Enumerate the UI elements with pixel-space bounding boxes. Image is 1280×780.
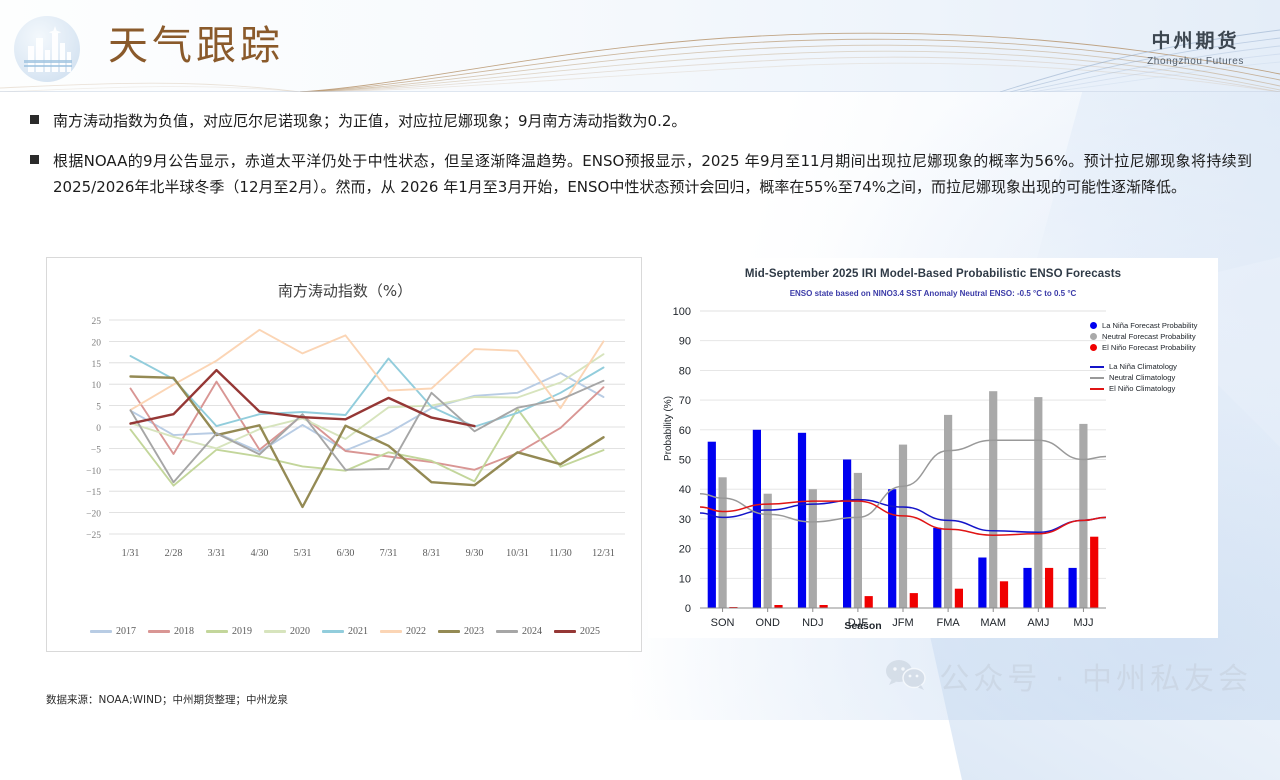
iri-legend-label: La Niña Forecast Probability — [1102, 321, 1197, 330]
iri-enso-forecast-chart: Mid-September 2025 IRI Model-Based Proba… — [648, 258, 1218, 638]
legend-swatch — [90, 630, 112, 633]
iri-legend-label: Neutral Forecast Probability — [1102, 332, 1196, 341]
bullet-square-icon — [30, 115, 39, 124]
legend-label: 2022 — [406, 626, 426, 637]
soi-plot-area: 2520151050−5−10−15−20−251/312/283/314/30… — [47, 306, 643, 586]
soi-legend-item-2019[interactable]: 2019 — [206, 626, 252, 637]
svg-text:70: 70 — [679, 395, 691, 407]
data-source-note: 数据来源：NOAA;WIND；中州期货整理；中州龙泉 — [46, 692, 288, 707]
legend-swatch — [206, 630, 228, 633]
svg-text:−15: −15 — [86, 488, 101, 498]
legend-dot-marker — [1090, 322, 1097, 329]
iri-legend-item[interactable]: La Niña Forecast Probability — [1090, 320, 1197, 331]
legend-label: 2018 — [174, 626, 194, 637]
watermark-text: 公众号 · 中州私友会 — [939, 654, 1252, 698]
soi-legend-item-2020[interactable]: 2020 — [264, 626, 310, 637]
soi-legend-item-2025[interactable]: 2025 — [554, 626, 600, 637]
svg-text:80: 80 — [679, 365, 691, 377]
svg-text:8/31: 8/31 — [423, 548, 441, 559]
iri-legend-item[interactable]: El Niño Climatology — [1090, 383, 1197, 394]
svg-text:10: 10 — [92, 381, 102, 391]
svg-text:−20: −20 — [86, 510, 101, 520]
soi-legend-item-2022[interactable]: 2022 — [380, 626, 426, 637]
soi-legend-item-2024[interactable]: 2024 — [496, 626, 542, 637]
svg-text:−25: −25 — [86, 531, 101, 541]
svg-text:15: 15 — [92, 360, 102, 370]
iri-legend-item[interactable]: Neutral Forecast Probability — [1090, 331, 1197, 342]
city-skyline-icon — [14, 16, 80, 82]
iri-legend-label: La Niña Climatology — [1109, 362, 1177, 371]
svg-text:0: 0 — [96, 424, 101, 434]
iri-plot-area: 0102030405060708090100SONONDNDJDJFJFMFMA… — [656, 303, 1116, 663]
bullet-square-icon — [30, 155, 39, 164]
brand-logo: 中州期货 Zhongzhou Futures — [1147, 26, 1244, 67]
iri-legend-label: Neutral Climatology — [1109, 373, 1175, 382]
ghost-caption — [46, 668, 48, 677]
svg-text:9/30: 9/30 — [466, 548, 484, 559]
iri-y-axis-label: Probability (%) — [663, 396, 674, 461]
legend-dot-marker — [1090, 344, 1097, 351]
legend-label: 2019 — [232, 626, 252, 637]
svg-text:3/31: 3/31 — [208, 548, 226, 559]
iri-legend-label: El Niño Climatology — [1109, 384, 1175, 393]
legend-swatch — [496, 630, 518, 633]
svg-text:12/31: 12/31 — [592, 548, 615, 559]
iri-legend-label: El Niño Forecast Probability — [1102, 343, 1196, 352]
legend-swatch — [322, 630, 344, 633]
bullet-item: 根据NOAA的9月公告显示，赤道太平洋仍处于中性状态，但呈逐渐降温趋势。ENSO… — [30, 148, 1252, 200]
soi-line-chart: 南方涛动指数（%） 2520151050−5−10−15−20−251/312/… — [46, 257, 642, 652]
legend-swatch — [148, 630, 170, 633]
legend-swatch — [554, 630, 576, 634]
svg-text:60: 60 — [679, 425, 691, 437]
legend-swatch — [380, 630, 402, 633]
legend-label: 2025 — [580, 626, 600, 637]
svg-text:5: 5 — [96, 403, 101, 413]
iri-chart-subtitle: ENSO state based on NINO3.4 SST Anomaly … — [648, 289, 1218, 298]
svg-text:10/31: 10/31 — [506, 548, 529, 559]
svg-text:5/31: 5/31 — [294, 548, 312, 559]
brand-name-en: Zhongzhou Futures — [1147, 56, 1244, 67]
svg-text:50: 50 — [679, 455, 691, 467]
legend-label: 2021 — [348, 626, 368, 637]
svg-text:100: 100 — [673, 306, 691, 318]
legend-label: 2024 — [522, 626, 542, 637]
legend-label: 2020 — [290, 626, 310, 637]
svg-text:7/31: 7/31 — [380, 548, 398, 559]
svg-text:−5: −5 — [91, 445, 101, 455]
legend-swatch — [264, 630, 286, 633]
company-logo-badge — [14, 16, 80, 82]
iri-x-axis-label: Season — [648, 620, 1078, 632]
soi-legend-item-2023[interactable]: 2023 — [438, 626, 484, 637]
bullet-item: 南方涛动指数为负值，对应厄尔尼诺现象；为正值，对应拉尼娜现象；9月南方涛动指数为… — [30, 108, 1252, 134]
brand-name-cn: 中州期货 — [1147, 26, 1244, 53]
bullet-text: 南方涛动指数为负值，对应厄尔尼诺现象；为正值，对应拉尼娜现象；9月南方涛动指数为… — [53, 108, 686, 134]
soi-legend-item-2021[interactable]: 2021 — [322, 626, 368, 637]
soi-legend-item-2017[interactable]: 2017 — [90, 626, 136, 637]
svg-text:30: 30 — [679, 514, 691, 526]
svg-text:4/30: 4/30 — [251, 548, 269, 559]
soi-legend: 201720182019202020212022202320242025 — [47, 626, 643, 637]
svg-text:20: 20 — [679, 544, 691, 556]
svg-text:−10: −10 — [86, 467, 101, 477]
svg-text:10: 10 — [679, 573, 691, 585]
legend-line-marker — [1090, 366, 1104, 368]
wechat-icon — [885, 659, 927, 693]
soi-legend-item-2018[interactable]: 2018 — [148, 626, 194, 637]
svg-text:2/28: 2/28 — [165, 548, 183, 559]
svg-text:1/31: 1/31 — [122, 548, 140, 559]
legend-label: 2023 — [464, 626, 484, 637]
legend-separator — [1090, 353, 1197, 361]
legend-line-marker — [1090, 377, 1104, 379]
svg-text:40: 40 — [679, 484, 691, 496]
iri-legend-item[interactable]: Neutral Climatology — [1090, 372, 1197, 383]
iri-legend-item[interactable]: El Niño Forecast Probability — [1090, 342, 1197, 353]
svg-text:6/30: 6/30 — [337, 548, 355, 559]
svg-text:0: 0 — [685, 603, 691, 615]
legend-label: 2017 — [116, 626, 136, 637]
legend-line-marker — [1090, 388, 1104, 390]
iri-chart-title: Mid-September 2025 IRI Model-Based Proba… — [648, 268, 1218, 280]
iri-legend: La Niña Forecast ProbabilityNeutral Fore… — [1090, 320, 1197, 394]
bullet-list: 南方涛动指数为负值，对应厄尔尼诺现象；为正值，对应拉尼娜现象；9月南方涛动指数为… — [30, 108, 1252, 214]
slide-header: 天气跟踪 中州期货 Zhongzhou Futures — [0, 0, 1280, 92]
svg-text:90: 90 — [679, 336, 691, 348]
bullet-text: 根据NOAA的9月公告显示，赤道太平洋仍处于中性状态，但呈逐渐降温趋势。ENSO… — [53, 148, 1252, 200]
svg-text:25: 25 — [92, 317, 102, 327]
legend-dot-marker — [1090, 333, 1097, 340]
header-divider — [0, 91, 1280, 92]
legend-swatch — [438, 630, 460, 634]
soi-chart-title: 南方涛动指数（%） — [47, 280, 643, 301]
svg-text:11/30: 11/30 — [549, 548, 571, 559]
wechat-watermark: 公众号 · 中州私友会 — [885, 654, 1252, 698]
iri-legend-item[interactable]: La Niña Climatology — [1090, 361, 1197, 372]
page-title: 天气跟踪 — [108, 20, 284, 72]
svg-text:20: 20 — [92, 338, 102, 348]
